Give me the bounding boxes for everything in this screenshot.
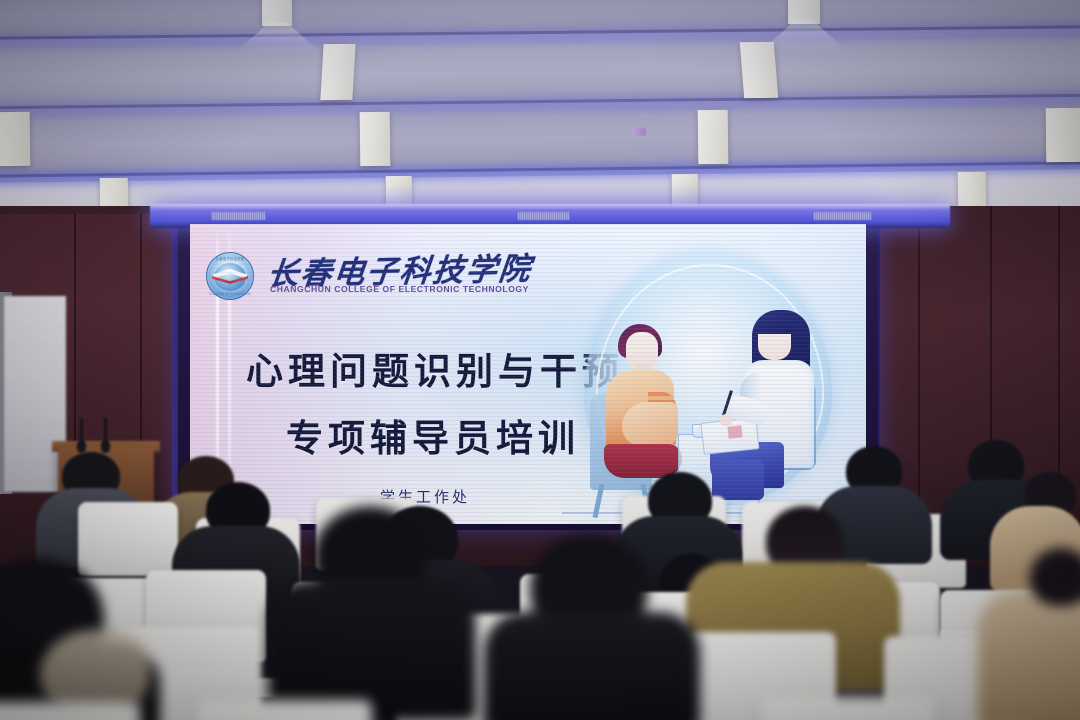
auditorium-chair[interactable] (760, 696, 936, 720)
ceiling-light-fixture (360, 112, 391, 166)
vent-grille-icon (212, 212, 266, 220)
ceiling-light-fixture (1046, 108, 1080, 162)
vent-grille-icon (518, 212, 570, 220)
ceiling-light-fixture (0, 112, 30, 166)
ceiling-light-fixture (320, 44, 355, 100)
vent-grille-icon (814, 212, 872, 220)
auditorium-chair[interactable] (0, 702, 140, 720)
auditorium-chair[interactable] (196, 700, 372, 720)
ceiling-light-fixture (740, 42, 779, 98)
lecture-hall-photo: 长春电子科技学院 COLLEGE OF ELECTRONIC 长春电子科技学院 … (0, 0, 1080, 720)
ceiling-sensor-icon (632, 128, 646, 136)
auditorium-chair[interactable] (78, 502, 178, 576)
ceiling-light-fixture (698, 110, 729, 164)
ceiling (0, 0, 1080, 232)
audience-seating (0, 430, 1080, 720)
